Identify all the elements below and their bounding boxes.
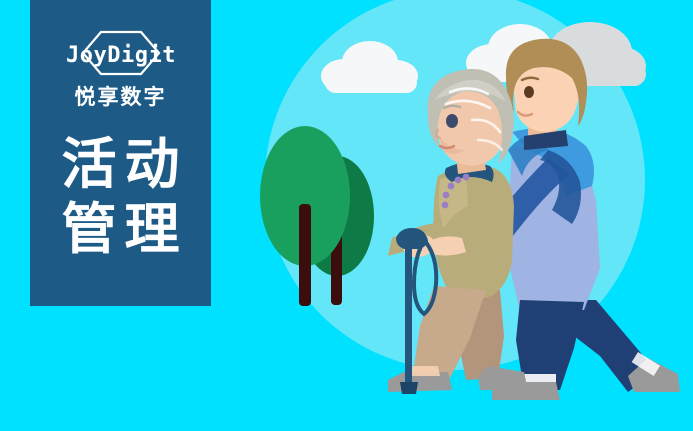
- brand-name-cn: 悦享数字: [75, 84, 167, 110]
- title-panel: JoyDigit 悦享数字 活动 管理: [30, 0, 211, 306]
- cane-tip: [400, 382, 418, 394]
- logo-wordmark: JoyDigit: [66, 43, 176, 68]
- man-eye: [524, 86, 534, 98]
- brand-block: JoyDigit 悦享数字: [30, 26, 211, 110]
- poster-canvas: JoyDigit 悦享数字 活动 管理: [0, 0, 693, 431]
- cane-shaft: [405, 246, 412, 388]
- page-title-line-1: 活动: [53, 132, 187, 197]
- joydigit-logo-icon: JoyDigit: [55, 26, 187, 80]
- page-title-line-2: 管理: [53, 197, 187, 262]
- page-title: 活动 管理: [53, 132, 187, 262]
- woman-eye: [446, 114, 458, 128]
